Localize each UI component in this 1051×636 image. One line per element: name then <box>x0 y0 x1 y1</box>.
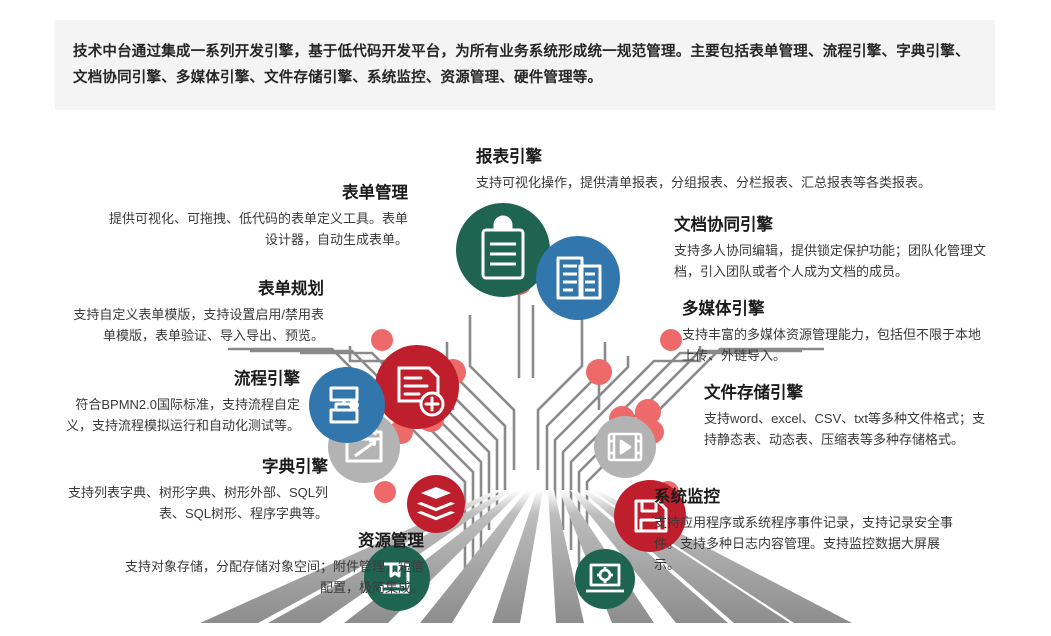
label-title: 资源管理 <box>124 530 424 552</box>
node-icon-document-collaboration-engine[interactable] <box>536 236 620 320</box>
label-report-engine: 报表引擎 支持可视化操作，提供清单报表，分组报表、分栏报表、汇总报表等各类报表。 <box>476 146 996 193</box>
infographic-canvas: 技术中台通过集成一系列开发引擎，基于低代码开发平台，为所有业务系统形成统一规范管… <box>0 0 1051 636</box>
label-title: 表单管理 <box>108 182 408 204</box>
node-icon-multimedia-engine[interactable] <box>594 416 656 478</box>
label-title: 文档协同引擎 <box>674 214 990 236</box>
label-title: 多媒体引擎 <box>682 298 988 320</box>
label-desc: 支持多人协同编辑，提供锁定保护功能；团队化管理文档，引入团队或者个人成为文档的成… <box>674 240 990 282</box>
label-system-monitor: 系统监控 支持应用程序或系统程序事件记录，支持记录安全事件。支持多种日志内容管理… <box>654 486 954 575</box>
node-icon-system-monitor[interactable] <box>575 549 635 609</box>
label-desc: 支持应用程序或系统程序事件记录，支持记录安全事件。支持多种日志内容管理。支持监控… <box>654 512 954 575</box>
label-desc: 支持列表字典、树形字典、树形外部、SQL列表、SQL树形、程序字典等。 <box>56 482 328 524</box>
label-desc: 支持对象存储，分配存储对象空间；附件管理，短信配置，极简集成。 <box>124 556 424 598</box>
label-desc: 支持自定义表单模版，支持设置启用/禁用表单模版，表单验证、导入导出、预览。 <box>66 304 324 346</box>
label-title: 表单规划 <box>66 278 324 300</box>
label-desc: 支持丰富的多媒体资源管理能力，包括但不限于本地上传、外链导入。 <box>682 324 988 366</box>
summary-banner: 技术中台通过集成一系列开发引擎，基于低代码开发平台，为所有业务系统形成统一规范管… <box>55 20 995 110</box>
label-title: 报表引擎 <box>476 146 996 168</box>
label-form-planning: 表单规划 支持自定义表单模版，支持设置启用/禁用表单模版，表单验证、导入导出、预… <box>66 278 324 346</box>
label-desc: 支持word、excel、CSV、txt等多种文件格式；支持静态表、动态表、压缩… <box>704 408 994 450</box>
label-file-storage-engine: 文件存储引擎 支持word、excel、CSV、txt等多种文件格式；支持静态表… <box>704 382 994 450</box>
summary-banner-text: 技术中台通过集成一系列开发引擎，基于低代码开发平台，为所有业务系统形成统一规范管… <box>55 39 995 91</box>
node-icon-resource-management[interactable] <box>407 475 465 533</box>
label-title: 文件存储引擎 <box>704 382 994 404</box>
label-desc: 符合BPMN2.0国际标准，支持流程自定义，支持流程模拟运行和自动化测试等。 <box>62 394 300 436</box>
label-document-collaboration-engine: 文档协同引擎 支持多人协同编辑，提供锁定保护功能；团队化管理文档，引入团队或者个… <box>674 214 990 282</box>
node-icon-process-engine[interactable] <box>309 367 385 443</box>
label-title: 字典引擎 <box>56 456 328 478</box>
label-title: 流程引擎 <box>62 368 300 390</box>
label-multimedia-engine: 多媒体引擎 支持丰富的多媒体资源管理能力，包括但不限于本地上传、外链导入。 <box>682 298 988 366</box>
node-icon-form-management[interactable] <box>375 345 459 429</box>
label-desc: 提供可视化、可拖拽、低代码的表单定义工具。表单设计器，自动生成表单。 <box>108 208 408 250</box>
node-icon-report-engine[interactable] <box>456 203 550 297</box>
label-resource-management: 资源管理 支持对象存储，分配存储对象空间；附件管理，短信配置，极简集成。 <box>124 530 424 598</box>
label-desc: 支持可视化操作，提供清单报表，分组报表、分栏报表、汇总报表等各类报表。 <box>476 172 996 193</box>
label-dictionary-engine: 字典引擎 支持列表字典、树形字典、树形外部、SQL列表、SQL树形、程序字典等。 <box>56 456 328 524</box>
label-title: 系统监控 <box>654 486 954 508</box>
label-form-management: 表单管理 提供可视化、可拖拽、低代码的表单定义工具。表单设计器，自动生成表单。 <box>108 182 408 250</box>
label-flow-engine: 流程引擎 符合BPMN2.0国际标准，支持流程自定义，支持流程模拟运行和自动化测… <box>62 368 300 436</box>
